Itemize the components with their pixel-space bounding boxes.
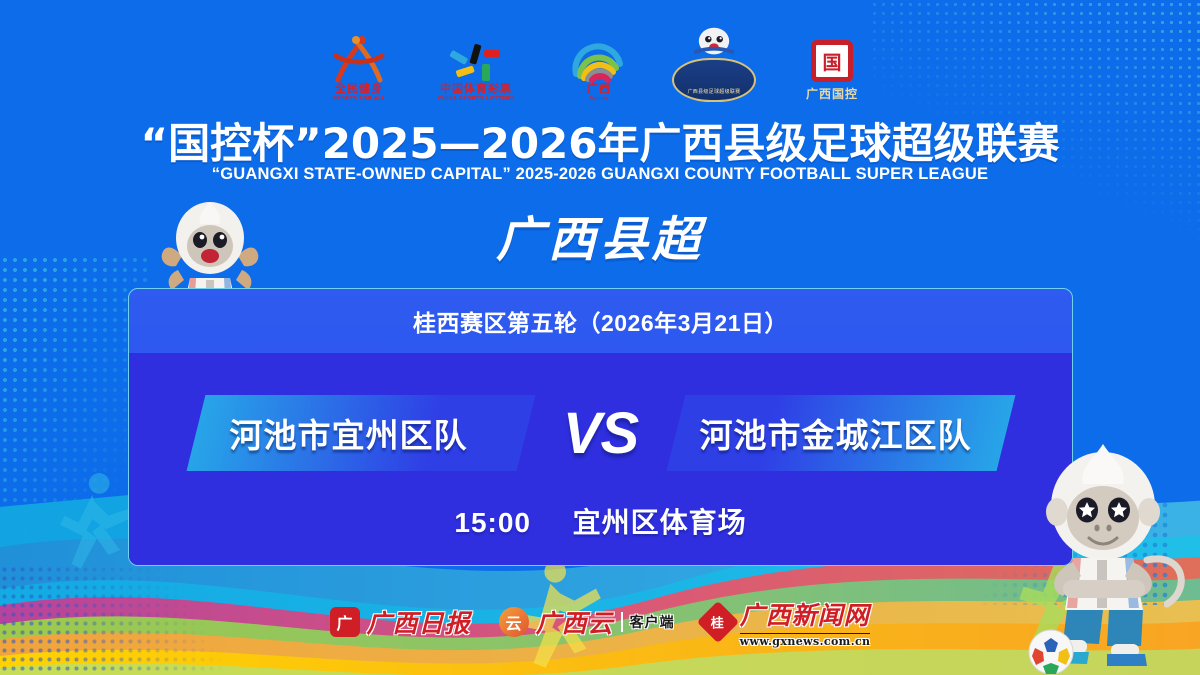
sponsor-label-cn: 广西 bbox=[587, 84, 611, 96]
monkey-mascot-with-ball bbox=[1015, 440, 1200, 675]
media-label-app: 客户端 bbox=[630, 612, 675, 632]
guangxi-news-net-glyph: 桂 bbox=[711, 612, 724, 631]
versus-label: VS bbox=[526, 400, 676, 467]
media-text-stack: 广西新闻网 www.gxnews.com.cn bbox=[740, 596, 871, 648]
sponsor-logo-row: 全民健身 SPORTS FOR ALL 中国体育彩票 CHINA SPORTS … bbox=[0, 22, 1200, 102]
media-logo-guangxi-cloud: 云 广西云 客户端 bbox=[499, 604, 675, 640]
league-badge-oval: 广西县级足球超级联赛 bbox=[672, 58, 756, 102]
gxgk-seal-icon: 国 bbox=[811, 40, 853, 82]
media-label-cn: 广西新闻网 bbox=[740, 596, 870, 632]
away-team-name: 河池市金城江区队 bbox=[676, 409, 1006, 457]
sports-for-all-icon bbox=[328, 34, 390, 84]
match-card: 桂西赛区第五轮（2026年3月21日） 河池市宜州区队 VS 河池市金城江区队 … bbox=[128, 288, 1073, 566]
media-logo-guangxi-daily: 广 广西日报 bbox=[330, 604, 471, 640]
sponsor-logo-guangxi-state-owned-capital: 国 广西国控 bbox=[786, 24, 878, 102]
media-divider bbox=[621, 612, 623, 632]
guangxi-cloud-icon: 云 bbox=[499, 607, 529, 637]
away-team: 河池市金城江区队 bbox=[676, 395, 1006, 471]
league-mascot-badge-icon bbox=[685, 24, 743, 58]
sponsor-label-en: CHINA SPORTS LOTTERY bbox=[438, 96, 514, 102]
guangxi-news-net-icon: 桂 bbox=[696, 601, 738, 643]
sponsor-label-cn: 广西县级足球超级联赛 bbox=[687, 88, 740, 95]
page-title-cn: “国控杯”2025—2026年广西县级足球超级联赛 bbox=[0, 110, 1200, 171]
sponsor-logo-china-sports-lottery: 中国体育彩票 CHINA SPORTS LOTTERY bbox=[422, 24, 530, 102]
sponsor-label-cn: 广西国控 bbox=[806, 85, 858, 102]
venue-name: 宜州区体育场 bbox=[573, 507, 747, 538]
home-team-name: 河池市宜州区队 bbox=[196, 409, 526, 457]
sponsor-logo-sports-for-all: 全民健身 SPORTS FOR ALL bbox=[322, 24, 396, 102]
kickoff-time: 15:00 bbox=[454, 507, 531, 538]
sponsor-label-en: Sports bbox=[589, 96, 609, 102]
page-title-en: “GUANGXI STATE-OWNED CAPITAL” 2025-2026 … bbox=[0, 165, 1200, 184]
media-label-cn: 广西日报 bbox=[367, 604, 471, 640]
poster-stage: 全民健身 SPORTS FOR ALL 中国体育彩票 CHINA SPORTS … bbox=[0, 0, 1200, 675]
match-inner-panel: 河池市宜州区队 VS 河池市金城江区队 15:00 宜州区体育场 bbox=[129, 353, 1072, 565]
guangxi-daily-icon: 广 bbox=[330, 607, 360, 637]
sponsor-label-en: SPORTS FOR ALL bbox=[332, 96, 385, 102]
sponsor-logo-league-badge: 广西县级足球超级联赛 bbox=[668, 24, 760, 102]
media-logo-guangxi-news-net: 桂 广西新闻网 www.gxnews.com.cn bbox=[703, 596, 871, 648]
sponsor-label-cn: 中国体育彩票 bbox=[440, 84, 512, 96]
versus-row: 河池市宜州区队 VS 河池市金城江区队 bbox=[129, 393, 1072, 473]
guangxi-sports-swirl-icon bbox=[570, 40, 628, 84]
kickoff-line: 15:00 宜州区体育场 bbox=[129, 501, 1072, 541]
china-sports-lottery-icon bbox=[448, 42, 504, 84]
media-label-cn: 广西云 bbox=[536, 604, 614, 640]
media-url: www.gxnews.com.cn bbox=[740, 633, 871, 648]
sponsor-logo-guangxi-sports: 广西 Sports bbox=[556, 24, 642, 102]
home-team: 河池市宜州区队 bbox=[196, 395, 526, 471]
sponsor-label-cn: 全民健身 bbox=[335, 84, 383, 96]
round-label: 桂西赛区第五轮（2026年3月21日） bbox=[129, 289, 1072, 353]
